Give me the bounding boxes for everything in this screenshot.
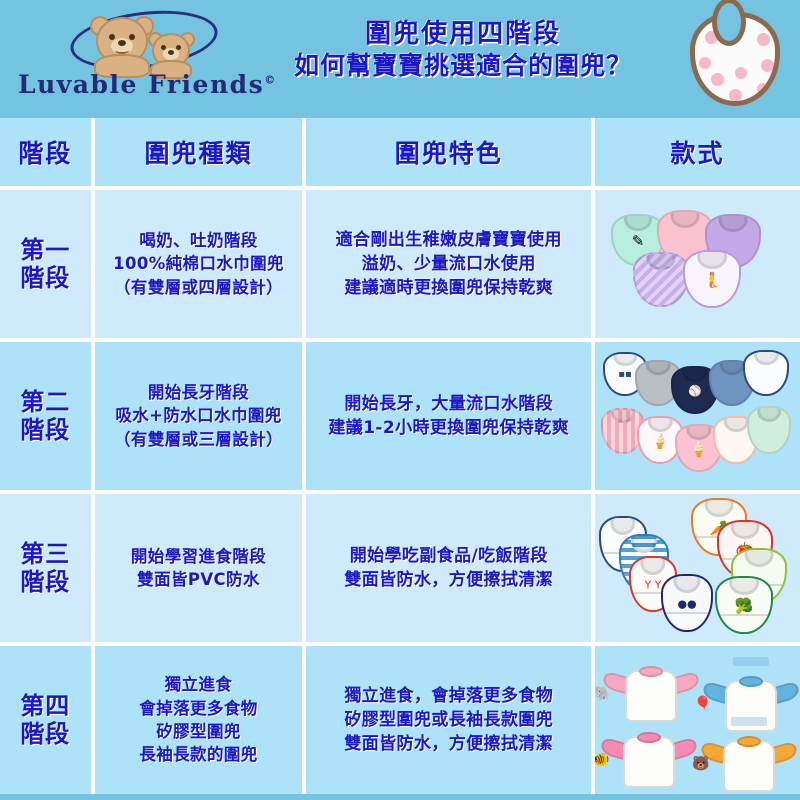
type-line: （有雙層或三層設計） xyxy=(114,428,283,451)
type-cell: 開始學習進食階段 雙面皆PVC防水 xyxy=(95,494,303,642)
column-header-label: 款式 xyxy=(671,134,725,170)
style-cell: ▪▪ ⚾ 🍦 🍦 xyxy=(595,342,800,490)
brand-name-text: Luvable Friends xyxy=(18,70,264,99)
type-line: 100%純棉口水巾圍兜 xyxy=(113,252,284,275)
type-line: 矽膠型圍兜 xyxy=(139,720,257,743)
stage-label-line2: 階段 xyxy=(20,264,70,292)
feature-line: 矽膠型圍兜或長袖長款圍兜 xyxy=(344,708,553,732)
column-header-label: 圍兜種類 xyxy=(145,134,253,170)
title-line-1: 圍兜使用四階段 xyxy=(258,20,668,49)
brand-logo: Luvable Friends© xyxy=(18,8,268,112)
stage-cell: 第二 階段 xyxy=(0,342,91,490)
column-header-label: 圍兜特色 xyxy=(395,134,503,170)
features-cell: 適合剛出生稚嫩皮膚寶寶使用 溢奶、少量流口水使用 建議適時更換圍兜保持乾爽 xyxy=(306,190,591,338)
polka-dot-bib-icon xyxy=(684,10,788,110)
bib-product: ●● xyxy=(661,574,713,632)
stage-label-line1: 第二 xyxy=(20,388,70,416)
features-description: 適合剛出生稚嫩皮膚寶寶使用 溢奶、少量流口水使用 建議適時更換圍兜保持乾爽 xyxy=(332,228,566,300)
feature-line: 建議適時更換圍兜保持乾爽 xyxy=(336,276,562,300)
type-line: 吸水+防水口水巾圍兜 xyxy=(114,404,283,427)
header-banner: Luvable Friends© 圍兜使用四階段 如何幫寶寶挑選適合的圍兜？ xyxy=(0,0,800,118)
infographic-page: Luvable Friends© 圍兜使用四階段 如何幫寶寶挑選適合的圍兜？ xyxy=(0,0,800,800)
type-cell: 喝奶、吐奶階段 100%純棉口水巾圍兜 （有雙層或四層設計） xyxy=(95,190,303,338)
features-description: 開始長牙，大量流口水階段 建議1-2小時更換圍兜保持乾爽 xyxy=(324,392,573,440)
table-row: 第四 階段 獨立進食 會掉落更多食物 矽膠型圍兜 長袖長款的圍兜 獨立進食，會掉… xyxy=(0,646,800,794)
bib-product xyxy=(743,350,789,396)
type-line: 開始學習進食階段 xyxy=(131,545,266,568)
feature-line: 獨立進食，會掉落更多食物 xyxy=(344,684,553,708)
stage4-smock-photos: 🐘 🎈 🐠 xyxy=(595,646,800,794)
type-line: 獨立進食 xyxy=(139,673,257,696)
stage-label: 第四 階段 xyxy=(20,692,70,749)
type-line: （有雙層或四層設計） xyxy=(113,276,284,299)
type-line: 開始長牙階段 xyxy=(114,381,283,404)
type-line: 長袖長款的圍兜 xyxy=(139,743,257,766)
type-cell: 獨立進食 會掉落更多食物 矽膠型圍兜 長袖長款的圍兜 xyxy=(95,646,303,794)
table-row: 第一 階段 喝奶、吐奶階段 100%純棉口水巾圍兜 （有雙層或四層設計） 適合剛… xyxy=(0,190,800,338)
table-header-row: 階段 圍兜種類 圍兜特色 款式 xyxy=(0,118,800,186)
stage-label-line2: 階段 xyxy=(20,568,70,596)
stage-cell: 第四 階段 xyxy=(0,646,91,794)
stage3-bib-photos: Y Y ●● 🥕 🍅 🥦 xyxy=(595,494,800,642)
column-header-type: 圍兜種類 xyxy=(95,118,303,186)
stage-label-line2: 階段 xyxy=(20,720,70,748)
type-description: 開始長牙階段 吸水+防水口水巾圍兜 （有雙層或三層設計） xyxy=(110,381,287,451)
type-description: 喝奶、吐奶階段 100%純棉口水巾圍兜 （有雙層或四層設計） xyxy=(109,229,288,299)
column-header-label: 階段 xyxy=(18,134,72,170)
type-line: 雙面皆PVC防水 xyxy=(131,568,266,591)
table-row: 第三 階段 開始學習進食階段 雙面皆PVC防水 開始學吃副食品/吃飯階段 雙面皆… xyxy=(0,494,800,642)
column-header-style: 款式 xyxy=(595,118,800,186)
stage-label-line1: 第三 xyxy=(20,540,70,568)
type-line: 喝奶、吐奶階段 xyxy=(113,229,284,252)
stage-label-line1: 第一 xyxy=(20,236,70,264)
bib-product: 🧜 xyxy=(683,250,741,308)
stage-label-line1: 第四 xyxy=(20,692,70,720)
teddy-bears-logo-icon xyxy=(18,8,268,74)
brand-name: Luvable Friends© xyxy=(18,70,268,99)
stage1-bib-photos: ✎ 🧜 xyxy=(595,190,800,338)
bib-product xyxy=(633,252,689,307)
feature-line: 開始長牙，大量流口水階段 xyxy=(328,392,569,416)
features-cell: 獨立進食，會掉落更多食物 矽膠型圍兜或長袖長款圍兜 雙面皆防水，方便擦拭清潔 xyxy=(306,646,591,794)
style-cell: Y Y ●● 🥕 🍅 🥦 xyxy=(595,494,800,642)
page-title: 圍兜使用四階段 如何幫寶寶挑選適合的圍兜？ xyxy=(258,20,668,80)
style-cell: 🐘 🎈 🐠 xyxy=(595,646,800,794)
column-header-features: 圍兜特色 xyxy=(306,118,591,186)
feature-line: 雙面皆防水，方便擦拭清潔 xyxy=(344,568,553,592)
stage-cell: 第一 階段 xyxy=(0,190,91,338)
feature-line: 雙面皆防水，方便擦拭清潔 xyxy=(344,732,553,756)
type-description: 開始學習進食階段 雙面皆PVC防水 xyxy=(127,545,270,592)
type-cell: 開始長牙階段 吸水+防水口水巾圍兜 （有雙層或三層設計） xyxy=(95,342,303,490)
bib-neck-opening xyxy=(712,0,746,46)
type-line: 會掉落更多食物 xyxy=(139,697,257,720)
feature-line: 溢奶、少量流口水使用 xyxy=(336,252,562,276)
bib-product xyxy=(747,406,791,454)
features-cell: 開始長牙，大量流口水階段 建議1-2小時更換圍兜保持乾爽 xyxy=(306,342,591,490)
style-cell: ✎ 🧜 xyxy=(595,190,800,338)
feature-line: 建議1-2小時更換圍兜保持乾爽 xyxy=(328,416,569,440)
table-row: 第二 階段 開始長牙階段 吸水+防水口水巾圍兜 （有雙層或三層設計） 開始長牙，… xyxy=(0,342,800,490)
stage-cell: 第三 階段 xyxy=(0,494,91,642)
features-description: 獨立進食，會掉落更多食物 矽膠型圍兜或長袖長款圍兜 雙面皆防水，方便擦拭清潔 xyxy=(340,684,557,756)
stage2-bib-photos: ▪▪ ⚾ 🍦 🍦 xyxy=(595,342,800,490)
column-header-stage: 階段 xyxy=(0,118,91,186)
type-description: 獨立進食 會掉落更多食物 矽膠型圍兜 長袖長款的圍兜 xyxy=(135,673,261,767)
title-line-2: 如何幫寶寶挑選適合的圍兜？ xyxy=(258,52,668,80)
stage-label: 第三 階段 xyxy=(20,540,70,597)
stages-table: 階段 圍兜種類 圍兜特色 款式 第一 階段 xyxy=(0,118,800,800)
stage-label: 第二 階段 xyxy=(20,388,70,445)
features-cell: 開始學吃副食品/吃飯階段 雙面皆防水，方便擦拭清潔 xyxy=(306,494,591,642)
bib-product: 🥦 xyxy=(715,576,773,634)
features-description: 開始學吃副食品/吃飯階段 雙面皆防水，方便擦拭清潔 xyxy=(340,544,557,592)
feature-line: 適合剛出生稚嫩皮膚寶寶使用 xyxy=(336,228,562,252)
stage-label-line2: 階段 xyxy=(20,416,70,444)
feature-line: 開始學吃副食品/吃飯階段 xyxy=(344,544,553,568)
stage-label: 第一 階段 xyxy=(20,236,70,293)
